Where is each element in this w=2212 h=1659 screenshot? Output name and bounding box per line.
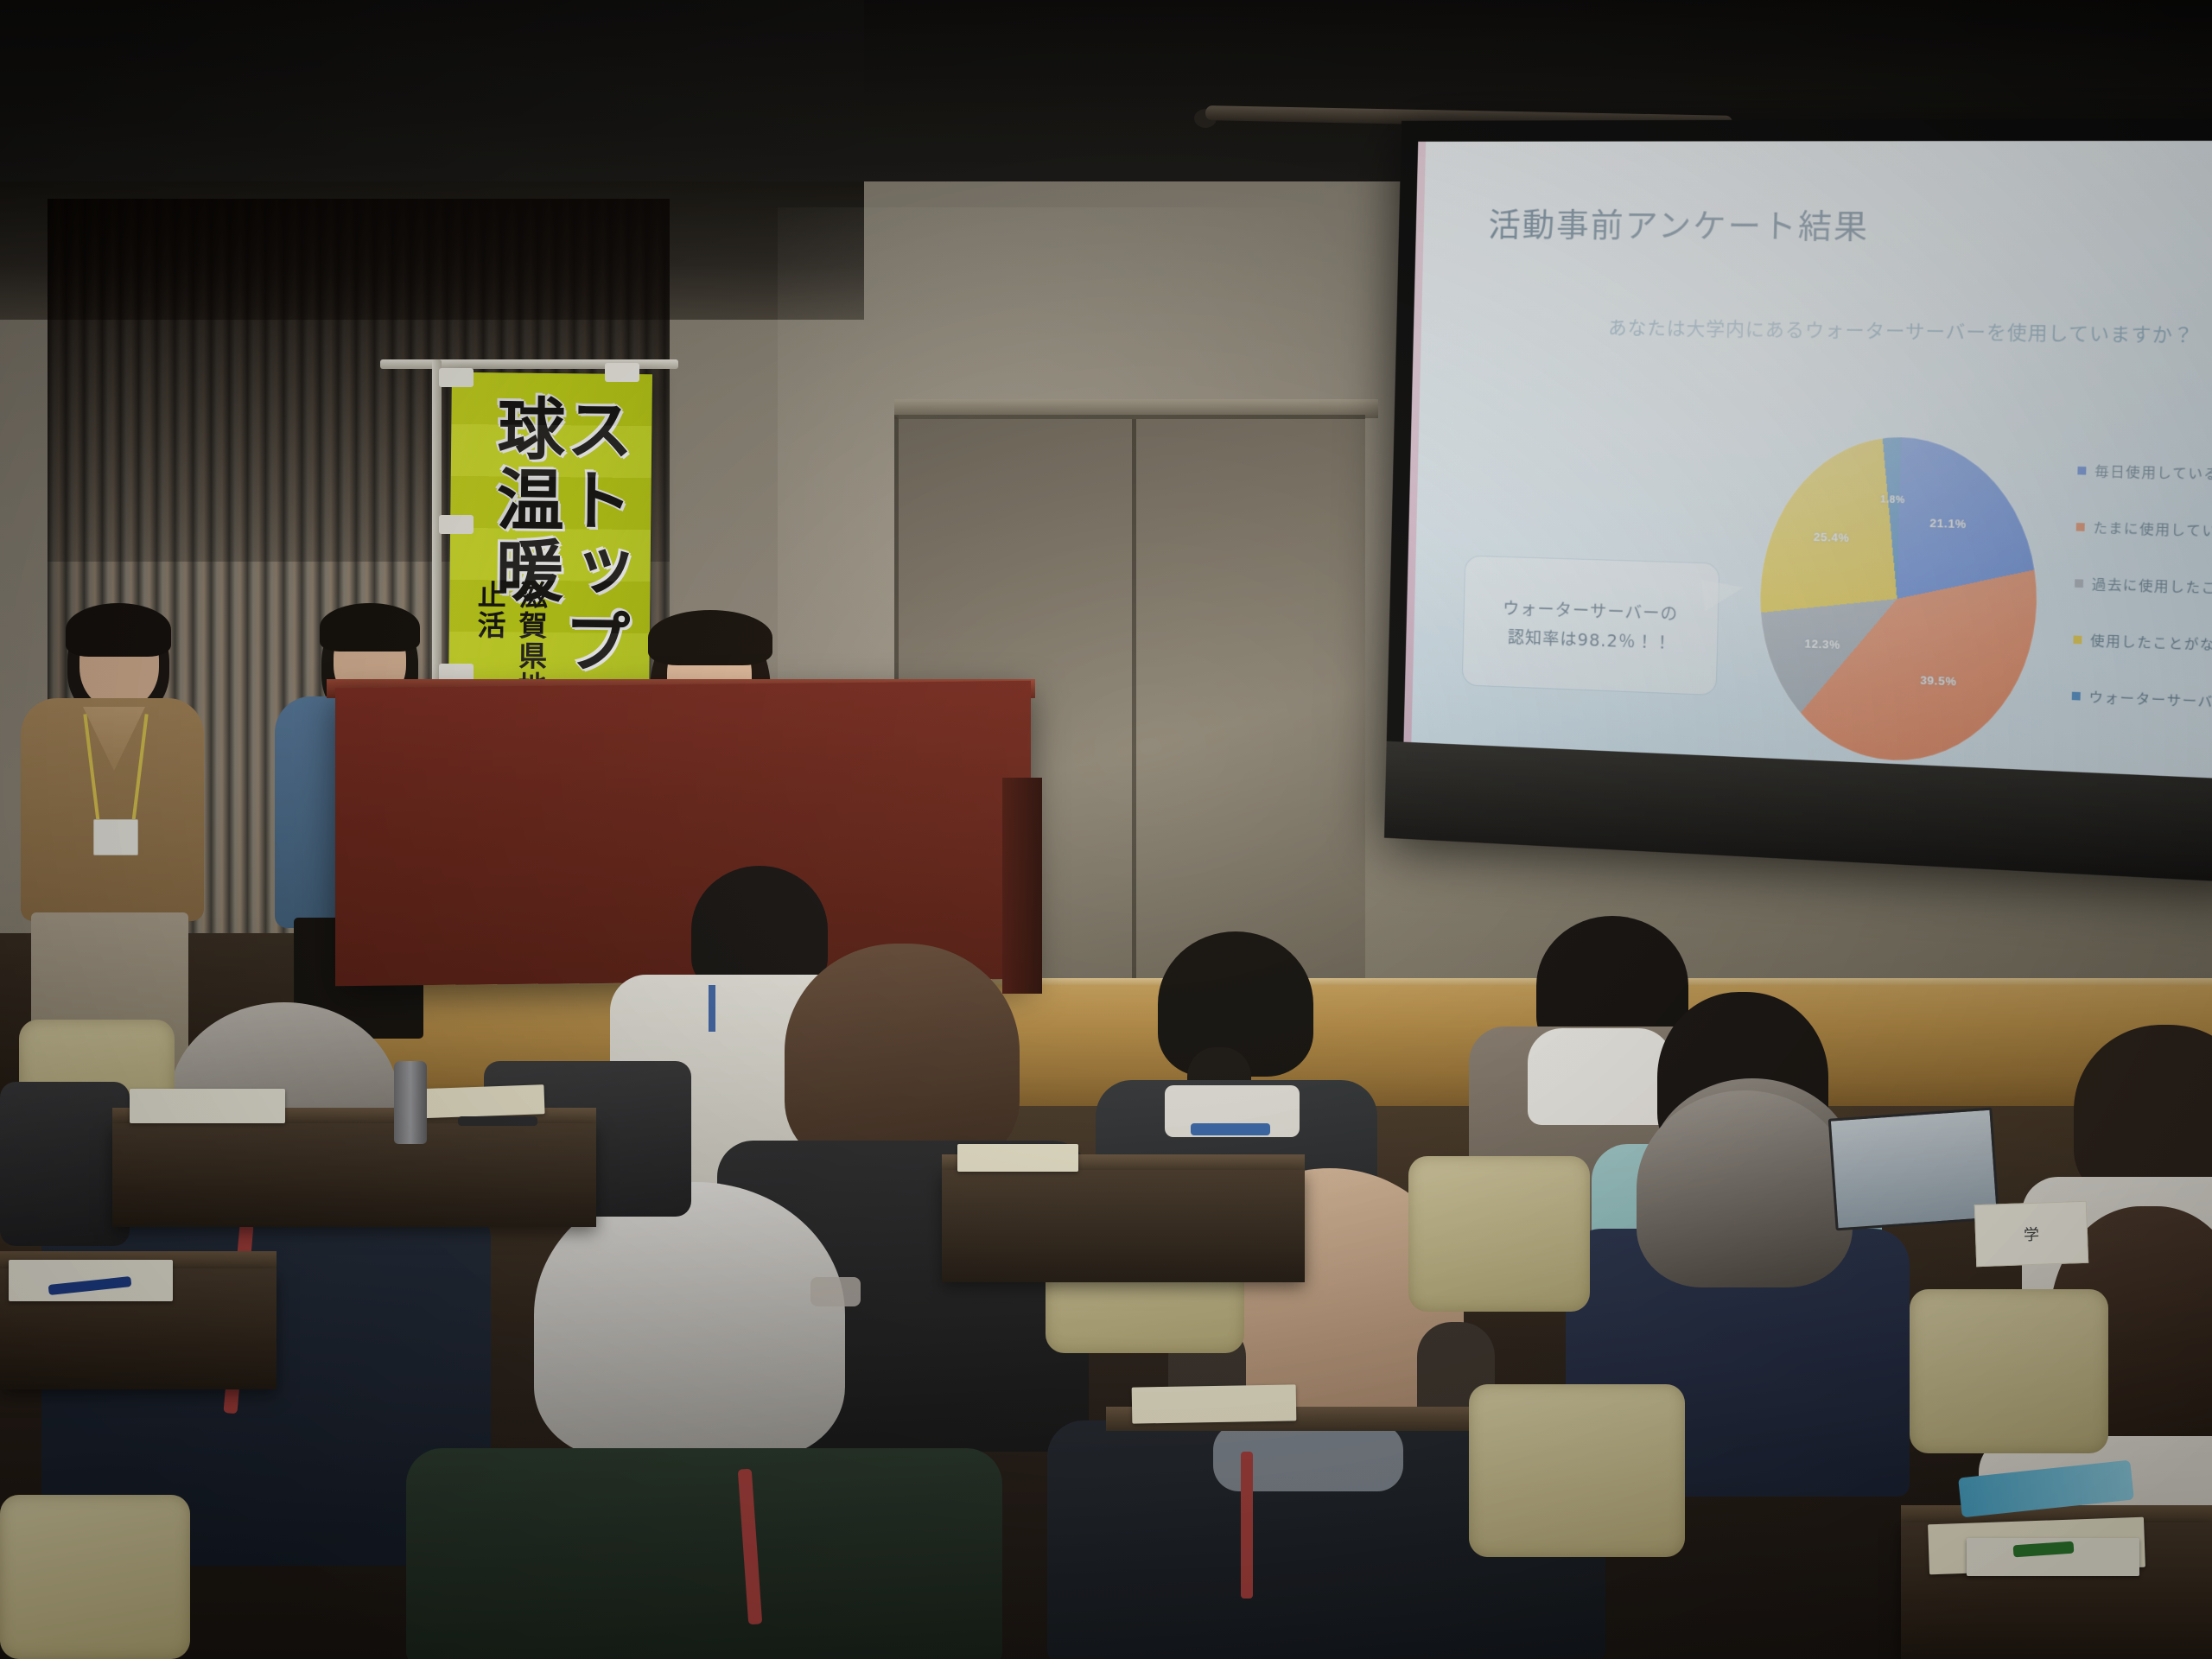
ceiling-right-section xyxy=(864,0,2212,130)
callout-line-2: 認知率は98.2％！！ xyxy=(1508,625,1672,654)
audience-white-hood xyxy=(1528,1028,1673,1125)
legend-item-1: たまに使用している xyxy=(2076,518,2212,543)
legend-swatch-3 xyxy=(2073,635,2082,644)
banner-tie-right xyxy=(605,363,639,382)
audience-ponytail-lanyard xyxy=(1191,1123,1270,1135)
presenter2-fringe xyxy=(320,603,420,652)
screen-edge-fringe xyxy=(1403,142,1426,742)
desk-paper-frontcenter[interactable] xyxy=(1132,1384,1297,1423)
presentation-hall-photo: 活動事前アンケート結果 あなたは大学内にあるウォーターサーバーを使用していますか… xyxy=(0,0,2212,1659)
chair-dark-far-left[interactable] xyxy=(0,1082,130,1246)
pie-chart: 21.1% 39.5% 12.3% 25.4% 1.8% xyxy=(1757,435,2041,766)
banner-tie-top xyxy=(439,368,474,387)
pie-label-3: 25.4% xyxy=(1814,530,1850,544)
banner-tie-mid xyxy=(439,515,474,534)
desk-paper-left[interactable] xyxy=(130,1089,285,1123)
legend-swatch-0 xyxy=(2077,467,2086,475)
legend-label-4: ウォーターサーバーがあること xyxy=(2088,687,2212,715)
white-hair-torso xyxy=(406,1448,1002,1659)
legend-swatch-2 xyxy=(2075,579,2083,588)
pie-label-4: 1.8% xyxy=(1880,494,1905,505)
podium-side-panel xyxy=(1002,778,1042,994)
chair-center-right[interactable] xyxy=(1408,1156,1590,1312)
brown-hair xyxy=(785,944,1020,1168)
podium xyxy=(335,681,1031,986)
desk-placard: 学 xyxy=(1974,1201,2088,1267)
chart-legend: 毎日使用しているたまに使用している過去に使用したことがある使用したことがないウォ… xyxy=(2070,461,2212,753)
audience-far-left-lanyard xyxy=(709,985,715,1032)
legend-label-1: たまに使用している xyxy=(2093,518,2212,541)
pen-left-desk[interactable] xyxy=(458,1116,537,1126)
pie-label-2: 12.3% xyxy=(1804,637,1840,652)
legend-swatch-4 xyxy=(2072,692,2081,701)
slide-title: 活動事前アンケート結果 xyxy=(1488,199,1870,248)
pie-label-1: 39.5% xyxy=(1920,674,1957,689)
legend-label-2: 過去に使用したことがある xyxy=(2092,575,2212,600)
speaker-fringe xyxy=(648,610,772,665)
desk-paper-center[interactable] xyxy=(957,1144,1078,1172)
presenter1-name-badge xyxy=(93,819,138,855)
legend-swatch-1 xyxy=(2076,523,2085,531)
legend-item-2: 過去に使用したことがある xyxy=(2075,574,2212,601)
desk-center xyxy=(942,1170,1305,1282)
slide-surface: 活動事前アンケート結果 あなたは大学内にあるウォーターサーバーを使用していますか… xyxy=(1403,141,2212,780)
pie-disc xyxy=(1757,435,2041,766)
callout-tail xyxy=(1701,575,1746,612)
pie-label-0: 21.1% xyxy=(1929,516,1967,531)
projection-screen: 活動事前アンケート結果 あなたは大学内にあるウォーターサーバーを使用していますか… xyxy=(1384,118,2212,883)
thermos-bottle[interactable] xyxy=(394,1061,427,1144)
chair-right-rear[interactable] xyxy=(1910,1289,2108,1453)
legend-label-0: 毎日使用している xyxy=(2094,461,2212,484)
desk-left xyxy=(112,1123,596,1227)
near-right-gray-hair xyxy=(1637,1090,1853,1287)
white-hair-glasses xyxy=(810,1277,861,1306)
door-seam xyxy=(1132,419,1136,1011)
bald-man-lanyard xyxy=(1241,1452,1253,1599)
legend-item-3: 使用したことがない xyxy=(2073,630,2212,658)
legend-label-3: 使用したことがない xyxy=(2090,631,2212,655)
chair-front-right[interactable] xyxy=(1469,1384,1685,1557)
legend-item-4: ウォーターサーバーがあること xyxy=(2072,686,2212,715)
presenter1-fringe xyxy=(66,603,171,657)
callout-line-1: ウォーターサーバーの xyxy=(1503,595,1679,625)
legend-item-0: 毎日使用している xyxy=(2077,461,2212,486)
slide-subtitle: あなたは大学内にあるウォーターサーバーを使用していますか？ xyxy=(1608,314,2195,348)
chair-front-left[interactable] xyxy=(0,1495,190,1659)
callout-bubble: ウォーターサーバーの 認知率は98.2％！！ xyxy=(1462,556,1720,696)
